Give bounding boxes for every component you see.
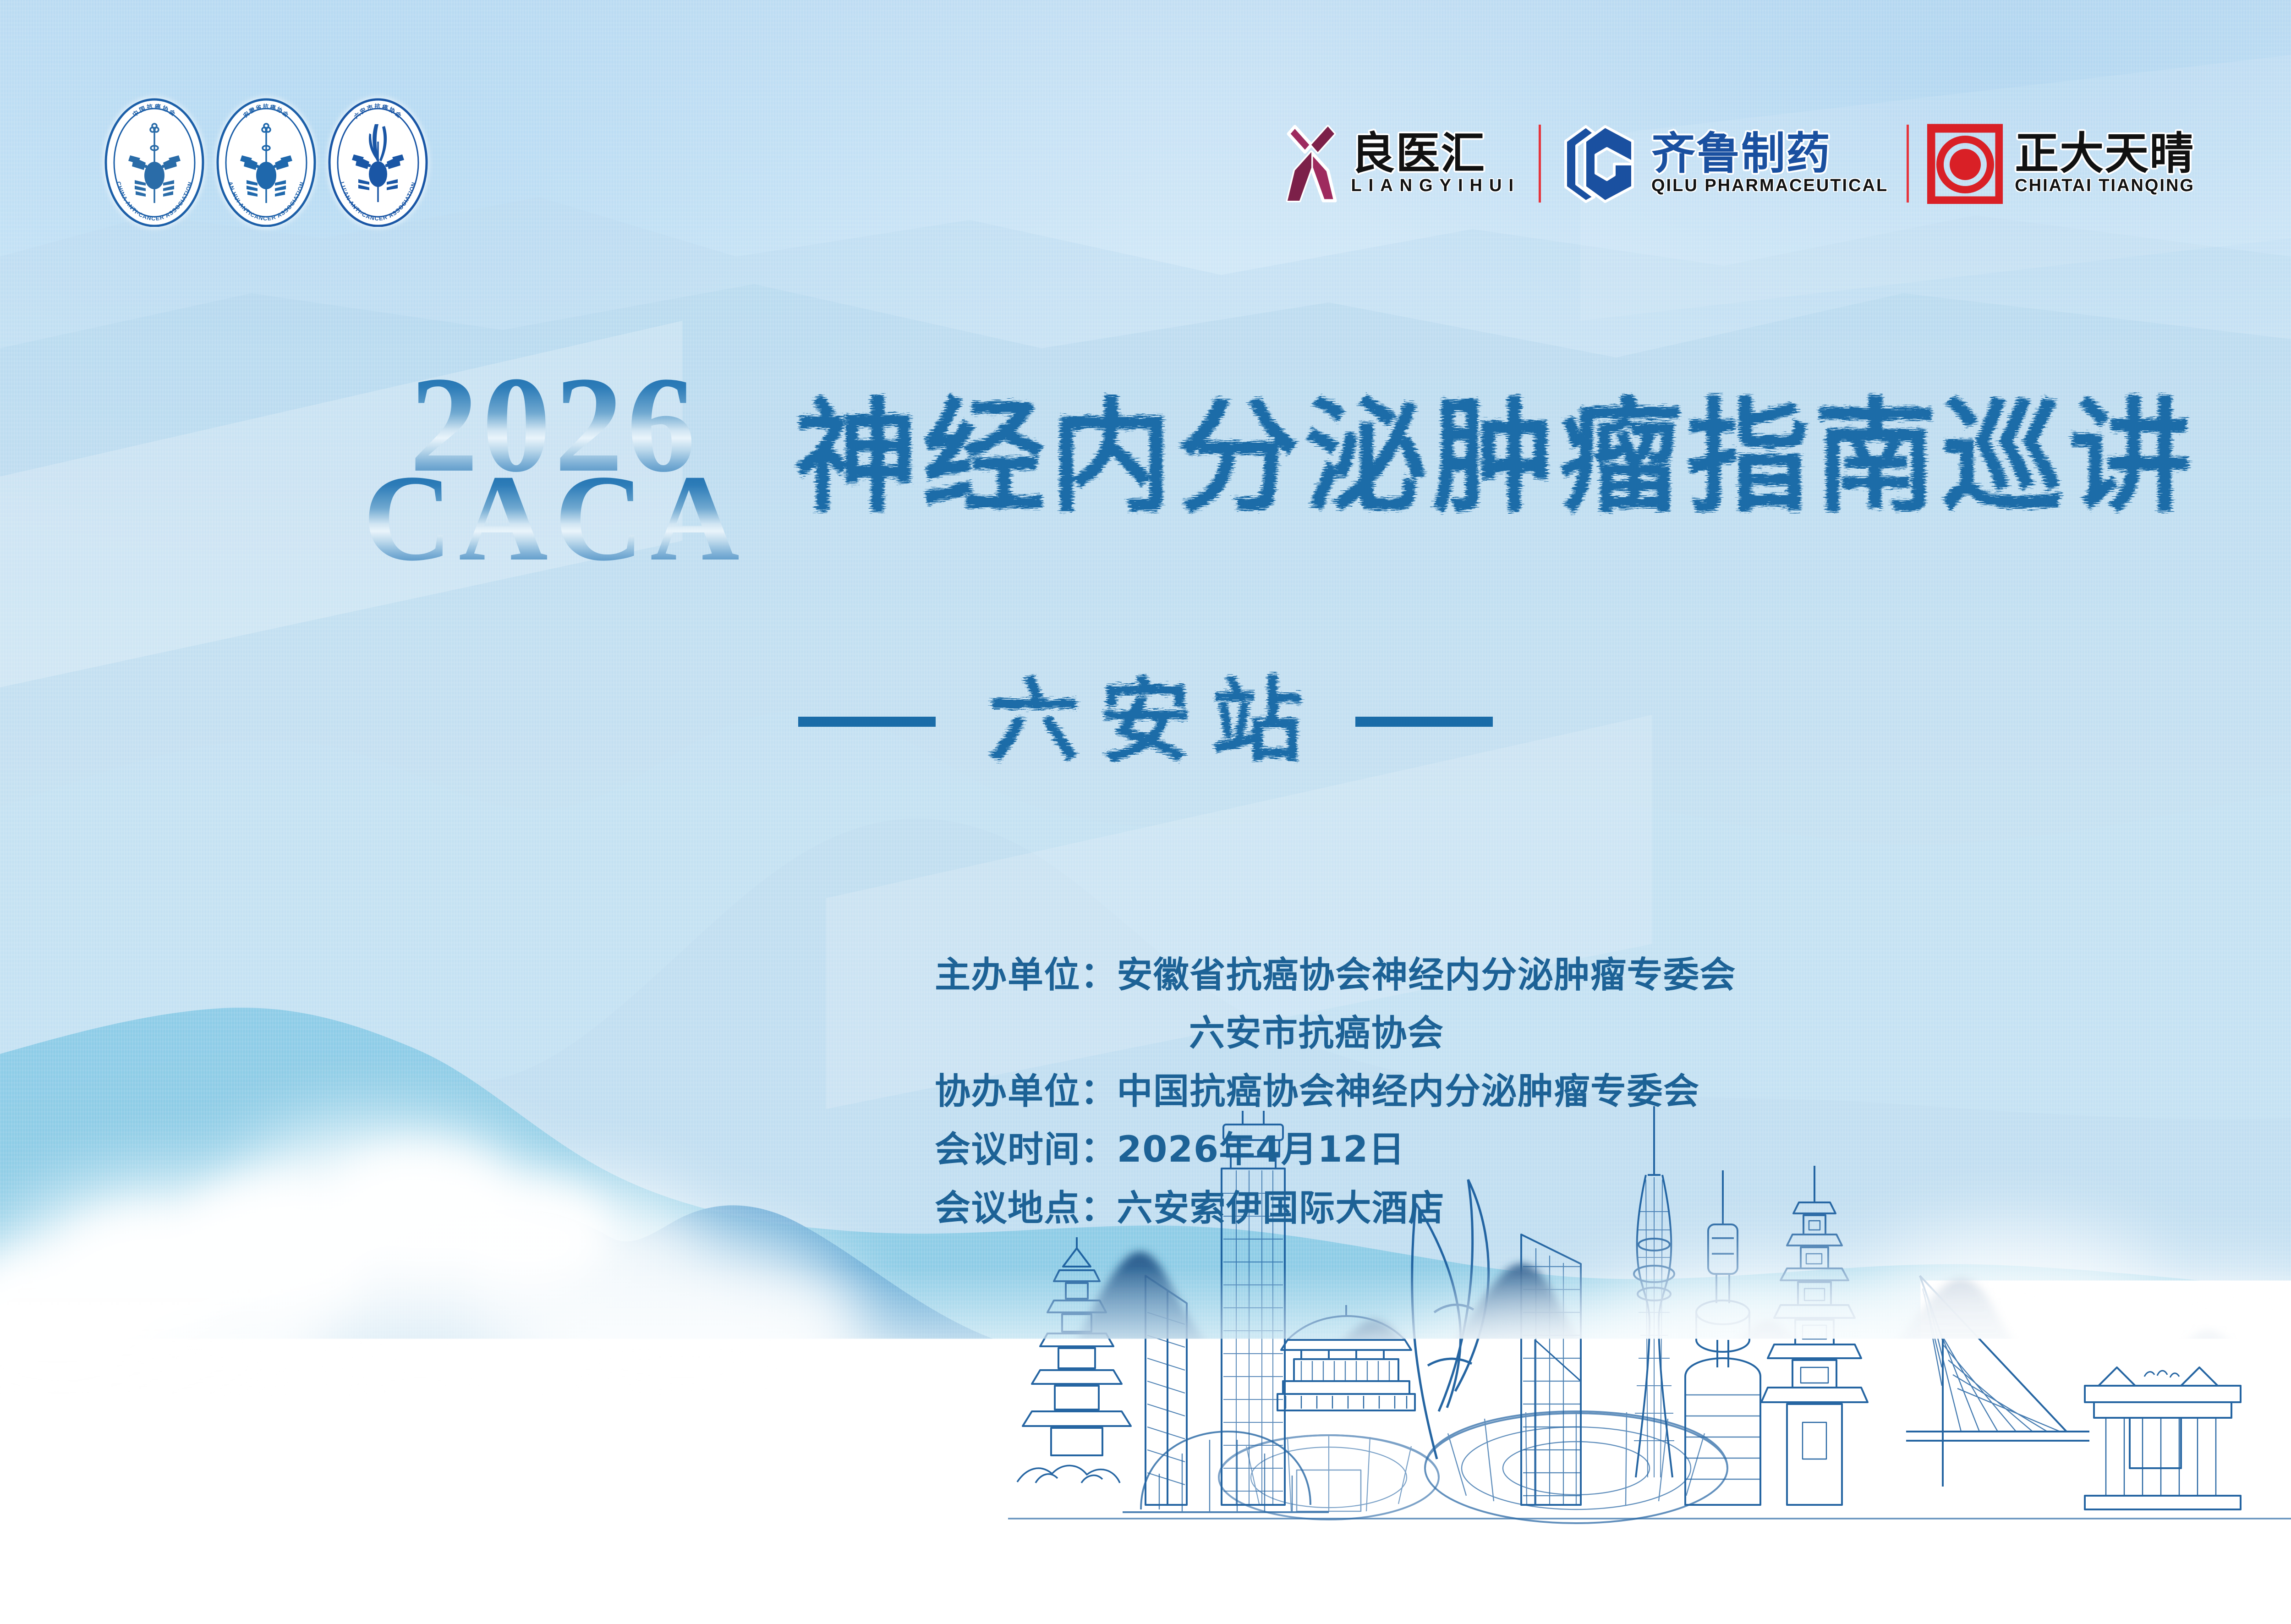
paper-texture-overlay [0, 0, 2291, 1624]
conference-info-block: 主办单位：安徽省抗癌协会神经内分泌肿瘤专委会 六安市抗癌协会 协办单位：中国抗癌… [935, 946, 1736, 1238]
sponsor-name-cn: 齐鲁制药 [1651, 132, 1888, 176]
sponsor-divider [1539, 125, 1541, 203]
station-row: 六安站 [0, 676, 2291, 768]
conference-poster: 中国抗癌协会 CHINA ANTI-CANCER ASSOCIATION [0, 0, 2291, 1624]
sponsor-name-cn: 正大天晴 [2015, 132, 2195, 176]
sponsor-name-en: LIANGYIHUI [1351, 177, 1520, 195]
info-line-organizer: 主办单位：安徽省抗癌协会神经内分泌肿瘤专委会 [935, 946, 1736, 1004]
info-line-venue: 会议地点：六安索伊国际大酒店 [935, 1180, 1736, 1238]
sponsor-name-cn: 良医汇 [1351, 132, 1520, 176]
association-seal-china[interactable]: 中国抗癌协会 CHINA ANTI-CANCER ASSOCIATION [102, 94, 207, 227]
info-line-datetime: 会议时间：2026年4月12日 [935, 1121, 1736, 1179]
red-square-circle-icon [1927, 124, 2003, 204]
qilu-hexagon-icon [1559, 120, 1639, 207]
station-rule-right [1355, 717, 1493, 727]
association-seal-luan[interactable]: 六安市抗癌协会 LU'AN ANTI-CANCER ASSOCIATION [325, 94, 431, 227]
main-title-cn: 神经内分泌肿瘤指南巡讲 [795, 396, 2196, 519]
association-logos: 中国抗癌协会 CHINA ANTI-CANCER ASSOCIATION [102, 94, 431, 227]
title-abbreviation: CACA [257, 466, 852, 571]
sponsor-chiatai-tianqing[interactable]: 正大天晴 CHIATAI TIANQING [1909, 124, 2213, 204]
caca-lockup: 2026 CACA [257, 367, 852, 571]
awareness-ribbon-icon [1284, 120, 1339, 207]
sponsor-liangyihui[interactable]: 良医汇 LIANGYIHUI [1266, 120, 1539, 207]
station-rule-left [798, 717, 936, 727]
sponsor-divider [1907, 125, 1909, 203]
info-line-co-organizer: 协办单位：中国抗癌协会神经内分泌肿瘤专委会 [935, 1063, 1736, 1121]
sponsor-qilu[interactable]: 齐鲁制药 QILU PHARMACEUTICAL [1541, 120, 1907, 207]
sponsor-name-en: CHIATAI TIANQING [2015, 177, 2195, 195]
sponsor-logos: 良医汇 LIANGYIHUI 齐鲁制药 QILU PHARMACEUTICAL [1266, 120, 2213, 207]
association-seal-anhui[interactable]: 安徽省抗癌协会 AN HUI ANTICANCER ASSOCIATION [214, 94, 319, 227]
sponsor-name-en: QILU PHARMACEUTICAL [1651, 177, 1888, 195]
station-name: 六安站 [968, 676, 1323, 768]
info-line-organizer-second: 六安市抗癌协会 [935, 1004, 1736, 1063]
